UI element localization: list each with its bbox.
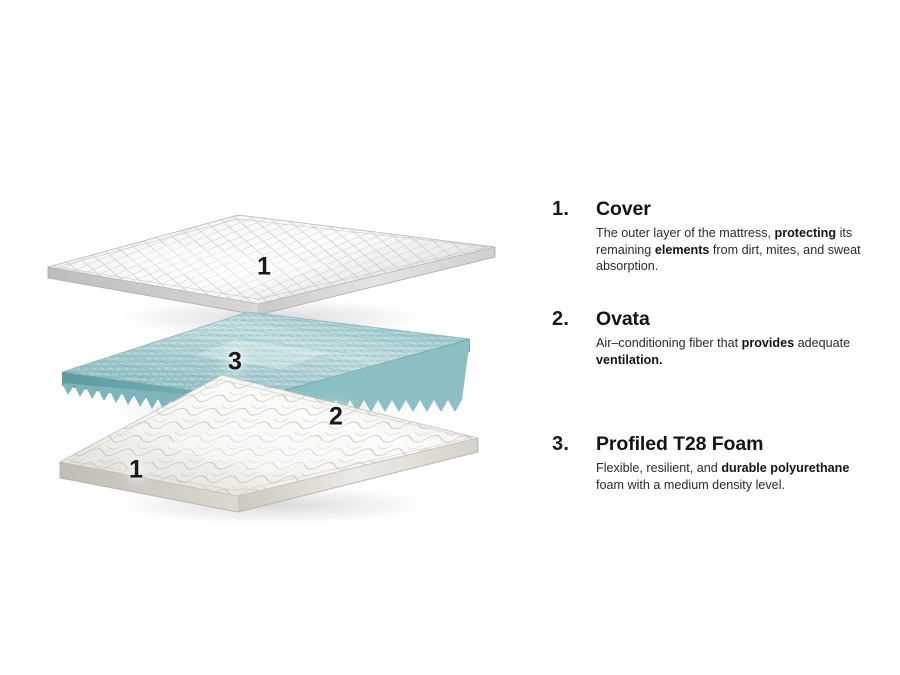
legend-item-profiled-foam: 3. Profiled T28 Foam Flexible, resilient… — [548, 433, 878, 493]
layer-cover — [48, 215, 495, 315]
legend-desc-ovata: Air–conditioning fiber that provides ade… — [596, 335, 868, 368]
legend-desc-profiled-foam: Flexible, resilient, and durable polyure… — [596, 460, 868, 493]
legend-marker-2: 2. — [552, 308, 592, 330]
legend-title-profiled-foam: Profiled T28 Foam — [596, 433, 878, 455]
legend-title-ovata: Ovata — [596, 308, 878, 330]
exploded-mattress-illustration: 1 3 2 1 — [0, 0, 520, 675]
product-layer-diagram: 1 3 2 1 1. Cover The outer layer of the … — [0, 0, 900, 675]
legend-item-cover: 1. Cover The outer layer of the mattress… — [548, 198, 878, 275]
layer-legend: 1. Cover The outer layer of the mattress… — [548, 0, 878, 675]
legend-title-cover: Cover — [596, 198, 878, 220]
legend-marker-3: 3. — [552, 433, 592, 455]
legend-desc-cover: The outer layer of the mattress, protect… — [596, 225, 868, 275]
legend-item-ovata: 2. Ovata Air–conditioning fiber that pro… — [548, 308, 878, 368]
legend-marker-1: 1. — [552, 198, 592, 220]
